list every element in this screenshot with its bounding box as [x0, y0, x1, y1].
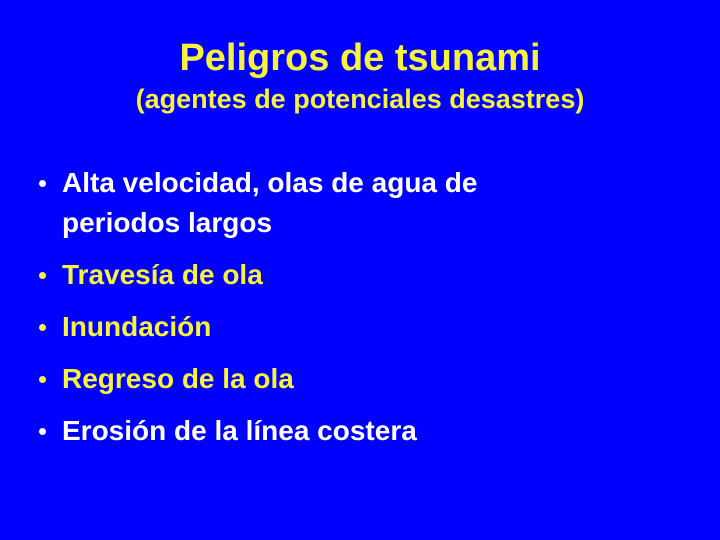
slide-title-block: Peligros de tsunami (agentes de potencia… [0, 36, 720, 116]
list-item-label: Travesía de ola [62, 255, 597, 295]
list-item-label: Erosión de la línea costera [62, 411, 597, 451]
bullet-dot-icon [22, 163, 62, 203]
list-item-label: Alta velocidad, olas de agua de periodos… [62, 163, 597, 243]
bullet-dot-icon [22, 307, 62, 347]
bullet-dot-icon [22, 411, 62, 451]
list-item: Regreso de la ola [22, 359, 622, 399]
list-item: Alta velocidad, olas de agua de periodos… [22, 163, 622, 243]
bullet-list: Alta velocidad, olas de agua de periodos… [22, 163, 622, 463]
list-item-label: Regreso de la ola [62, 359, 597, 399]
bullet-dot-icon [22, 359, 62, 399]
page-subtitle: (agentes de potenciales desastres) [0, 83, 720, 116]
list-item: Erosión de la línea costera [22, 411, 622, 451]
list-item: Travesía de ola [22, 255, 622, 295]
presentation-slide: Peligros de tsunami (agentes de potencia… [0, 0, 720, 540]
list-item: Inundación [22, 307, 622, 347]
list-item-label: Inundación [62, 307, 597, 347]
page-title: Peligros de tsunami [0, 36, 720, 80]
bullet-dot-icon [22, 255, 62, 295]
